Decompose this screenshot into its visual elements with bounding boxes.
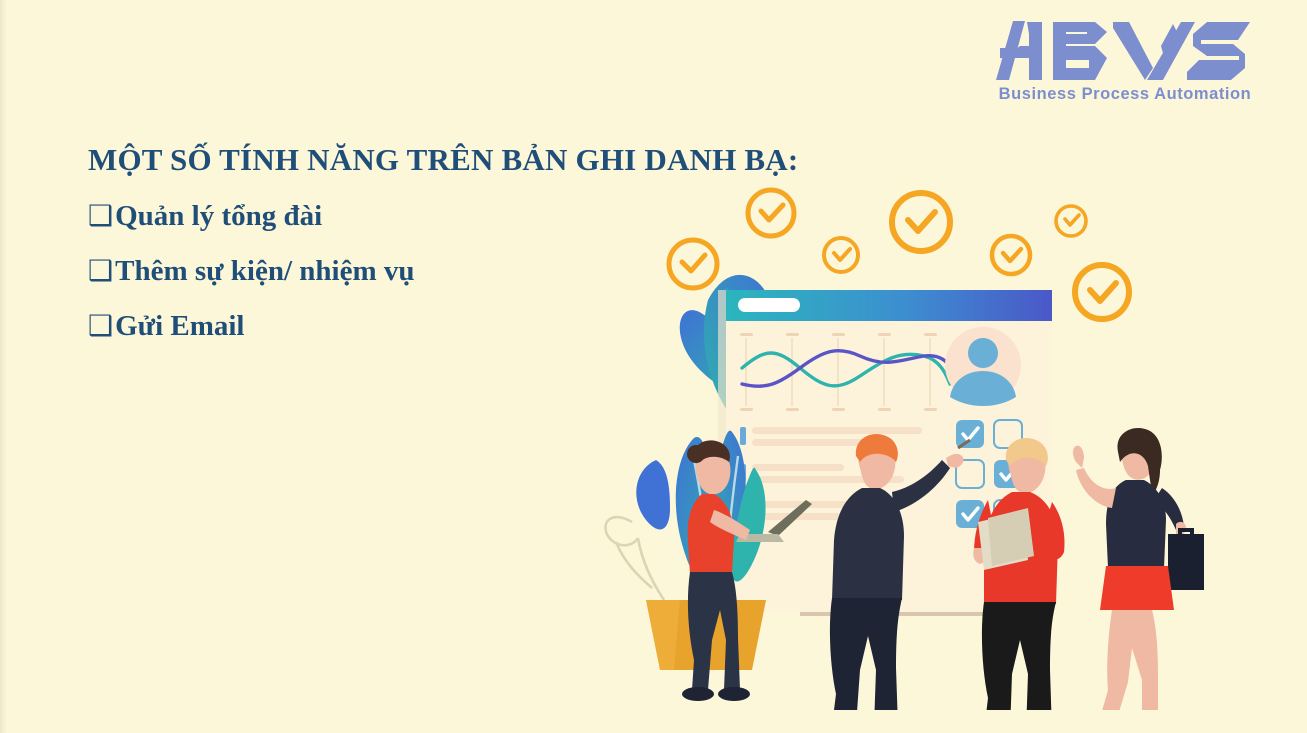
check-badge-icon [824,238,858,272]
avatar [945,327,1021,406]
briefcase [1168,534,1204,590]
logo-tagline: Business Process Automation [990,85,1260,104]
checkbox-square-icon: ❑ [88,257,113,285]
check-badge-icon [1056,206,1086,236]
list-item-label: Thêm sự kiện/ nhiệm vụ [115,255,414,288]
list-item-label: Quản lý tổng đài [115,200,322,233]
checkbox-square-icon: ❑ [88,202,113,230]
check-badge-icon [669,240,717,288]
check-badge-icon [748,190,794,236]
dashboard-header-pill [738,298,800,312]
abms-logo-icon [995,18,1255,84]
check-badge-icon [1075,265,1129,319]
team-dashboard-illustration [560,170,1260,710]
slide-canvas: Business Process Automation MỘT SỐ TÍNH … [0,0,1307,733]
person-woman-with-briefcase [1073,428,1204,710]
illustration-svg [560,170,1260,710]
abms-logo: Business Process Automation [990,18,1260,104]
checkbox-checked[interactable] [956,420,984,448]
check-badge-icon [892,193,950,251]
potted-plant [605,431,766,670]
list-item-label: Gửi Email [115,310,244,343]
checkbox-square-icon: ❑ [88,312,113,340]
check-badge-icon [992,236,1030,274]
slide-left-edge [0,0,7,733]
